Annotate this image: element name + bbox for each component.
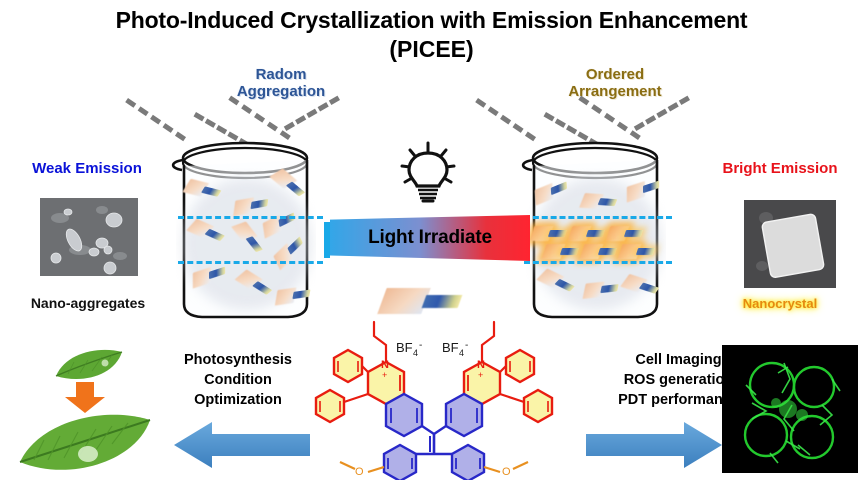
sem-image-nanocrystal <box>744 200 836 288</box>
label-ordered-arrangement-line2: Arrangement <box>520 83 710 100</box>
molecule-icon <box>185 178 222 201</box>
funnel-line-left-mid2 <box>284 96 340 131</box>
beaker-left-contents <box>176 168 316 316</box>
label-random-aggregation-line1: Radom <box>186 66 376 83</box>
chemical-structure: N + N + <box>300 312 568 480</box>
molecule-icon <box>608 226 642 241</box>
molecule-icon <box>544 244 578 259</box>
label-ordered-arrangement-line1: Ordered <box>520 66 710 83</box>
label-random-aggregation-line2: Aggregation <box>186 83 376 100</box>
svg-text:-: - <box>465 340 468 351</box>
label-weak-emission: Weak Emission <box>12 160 162 177</box>
light-irradiate-label: Light Irradiate <box>368 227 492 249</box>
svg-text:BF: BF <box>396 340 413 355</box>
arrow-left-icon <box>168 420 318 470</box>
label-ordered-arrangement: Ordered Arrangement <box>520 66 710 100</box>
molecule-icon <box>582 244 616 259</box>
svg-text:O: O <box>502 466 511 478</box>
arrow-right-icon <box>578 420 728 470</box>
page-title: Photo-Induced Crystallization with Emiss… <box>0 6 863 64</box>
molecule-icon <box>532 226 566 241</box>
svg-text:+: + <box>478 370 483 380</box>
beaker-right-contents <box>526 168 666 316</box>
sem-image-nano-aggregates <box>40 198 138 276</box>
svg-text:4: 4 <box>413 348 418 358</box>
title-line-1: Photo-Induced Crystallization with Emiss… <box>0 6 863 34</box>
lightbulb-icon <box>396 140 460 204</box>
title-line-2: (PICEE) <box>0 34 863 64</box>
leaf-large-icon <box>14 410 154 478</box>
svg-text:4: 4 <box>459 348 464 358</box>
irradiation-band-bottom-left <box>178 261 323 264</box>
svg-text:+: + <box>382 370 387 380</box>
irradiation-band-bottom-right <box>524 261 672 264</box>
irradiation-band-marker-left <box>324 222 330 258</box>
funnel-line-right-mid2 <box>634 96 690 131</box>
funnel-line-left-outer <box>125 98 186 141</box>
funnel-line-left-inner <box>228 96 290 140</box>
funnel-line-right-outer <box>475 98 536 141</box>
irradiation-band-top-left <box>178 216 323 219</box>
molecule-icon <box>582 193 617 210</box>
label-random-aggregation: Radom Aggregation <box>186 66 376 100</box>
molecule-icon <box>275 286 311 306</box>
svg-text:BF: BF <box>442 340 459 355</box>
light-irradiate-banner: Light Irradiate <box>330 215 530 261</box>
molecule-icon <box>570 226 604 241</box>
molecule-icon <box>620 244 654 259</box>
svg-text:O: O <box>355 466 364 478</box>
label-nanocrystal: Nanocrystal <box>700 296 860 311</box>
leaf-small-icon <box>52 346 126 384</box>
irradiation-band-top-right <box>524 216 672 219</box>
funnel-line-right-inner <box>578 96 640 140</box>
confocal-cell-image <box>722 345 858 473</box>
svg-text:-: - <box>419 340 422 351</box>
label-nano-aggregates: Nano-aggregates <box>8 295 168 311</box>
label-bright-emission: Bright Emission <box>700 160 860 177</box>
